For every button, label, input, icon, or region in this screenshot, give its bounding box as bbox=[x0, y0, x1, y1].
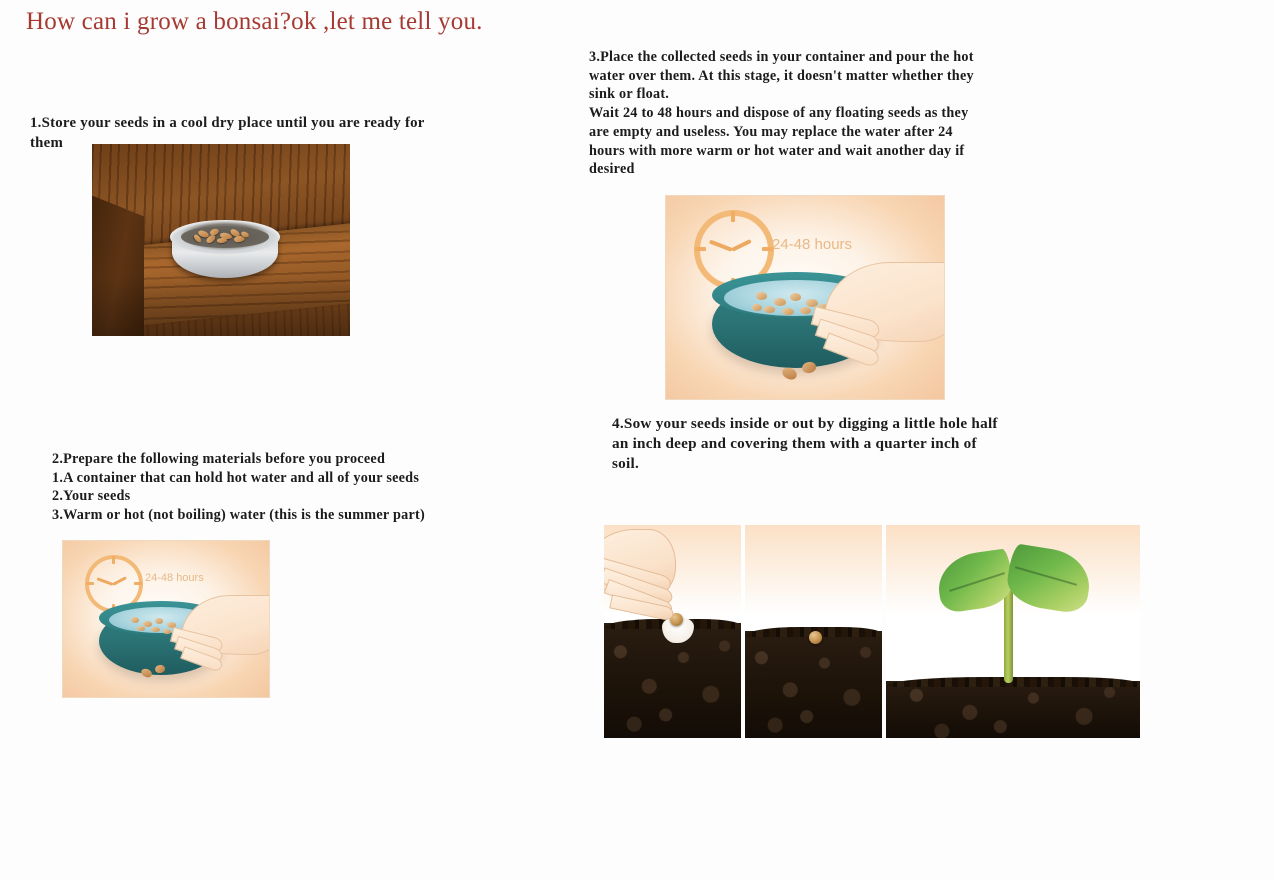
seedling-stem bbox=[1004, 583, 1013, 683]
soil-bed bbox=[886, 681, 1140, 738]
seed bbox=[800, 307, 811, 314]
figure-sowing-seed bbox=[604, 525, 882, 738]
clock-tick bbox=[86, 582, 94, 585]
seed bbox=[151, 627, 160, 632]
step-2-line-4: 3.Warm or hot (not boiling) water (this … bbox=[52, 506, 492, 525]
sow-panel-left bbox=[604, 525, 741, 738]
step-3-line-2: water over them. At this stage, it doesn… bbox=[589, 67, 1037, 86]
clock-minute-hand bbox=[97, 577, 114, 586]
clock-hour-hand bbox=[112, 576, 127, 586]
clock-hour-hand bbox=[731, 239, 752, 252]
step-3-line-1: 3.Place the collected seeds in your cont… bbox=[589, 48, 1037, 67]
clock-tick bbox=[134, 582, 142, 585]
step-2-line-1: 2.Prepare the following materials before… bbox=[52, 450, 492, 469]
step-3-text: 3.Place the collected seeds in your cont… bbox=[589, 48, 1037, 179]
step-2-line-2: 1.A container that can hold hot water an… bbox=[52, 469, 492, 488]
seed bbox=[774, 298, 786, 306]
ceramic-bowl bbox=[170, 220, 280, 282]
clock-tick bbox=[731, 211, 735, 222]
figure-soaking-seeds-large: 24-48 hours bbox=[665, 195, 945, 400]
seed bbox=[782, 308, 794, 315]
seed bbox=[790, 293, 801, 301]
seed bbox=[131, 617, 139, 623]
step-2-line-3: 2.Your seeds bbox=[52, 487, 492, 506]
seed bbox=[137, 626, 145, 631]
seed bbox=[756, 292, 767, 300]
clock-duration-label: 24-48 hours bbox=[772, 236, 852, 253]
step-3-line-6: hours with more warm or hot water and wa… bbox=[589, 142, 1037, 161]
step-1-line-1: 1.Store your seeds in a cool dry place u… bbox=[30, 114, 470, 134]
clock-tick bbox=[112, 556, 115, 564]
soil-surface-edge bbox=[886, 677, 1140, 687]
step-4-line-2: an inch deep and covering them with a qu… bbox=[612, 434, 1042, 454]
page-title: How can i grow a bonsai?ok ,let me tell … bbox=[26, 8, 483, 36]
seed bbox=[143, 621, 152, 627]
page-canvas: How can i grow a bonsai?ok ,let me tell … bbox=[0, 0, 1274, 880]
step-4-line-3: soil. bbox=[612, 454, 1042, 474]
step-2-text: 2.Prepare the following materials before… bbox=[52, 450, 492, 525]
clock-tick bbox=[695, 247, 706, 251]
soil-bed bbox=[745, 631, 882, 738]
table-shadow bbox=[92, 276, 350, 336]
step-3-line-3: sink or float. bbox=[589, 85, 1037, 104]
step-3-line-5: are empty and useless. You may replace t… bbox=[589, 123, 1037, 142]
figure-bowl-on-table bbox=[92, 144, 350, 336]
clock-minute-hand bbox=[709, 240, 733, 252]
sow-panel-right bbox=[745, 525, 882, 738]
clock-duration-label: 24-48 hours bbox=[145, 572, 204, 584]
figure-soaking-seeds-small: 24-48 hours bbox=[62, 540, 270, 698]
seed bbox=[809, 631, 822, 644]
seed bbox=[752, 304, 762, 311]
seed bbox=[764, 306, 775, 313]
step-4-text: 4.Sow your seeds inside or out by diggin… bbox=[612, 414, 1042, 476]
step-3-line-7: desired bbox=[589, 160, 1037, 179]
step-4-line-1: 4.Sow your seeds inside or out by diggin… bbox=[612, 414, 1042, 434]
seed bbox=[155, 618, 163, 624]
step-3-line-4: Wait 24 to 48 hours and dispose of any f… bbox=[589, 104, 1037, 123]
figure-seedling bbox=[886, 525, 1140, 738]
seed bbox=[163, 629, 171, 634]
